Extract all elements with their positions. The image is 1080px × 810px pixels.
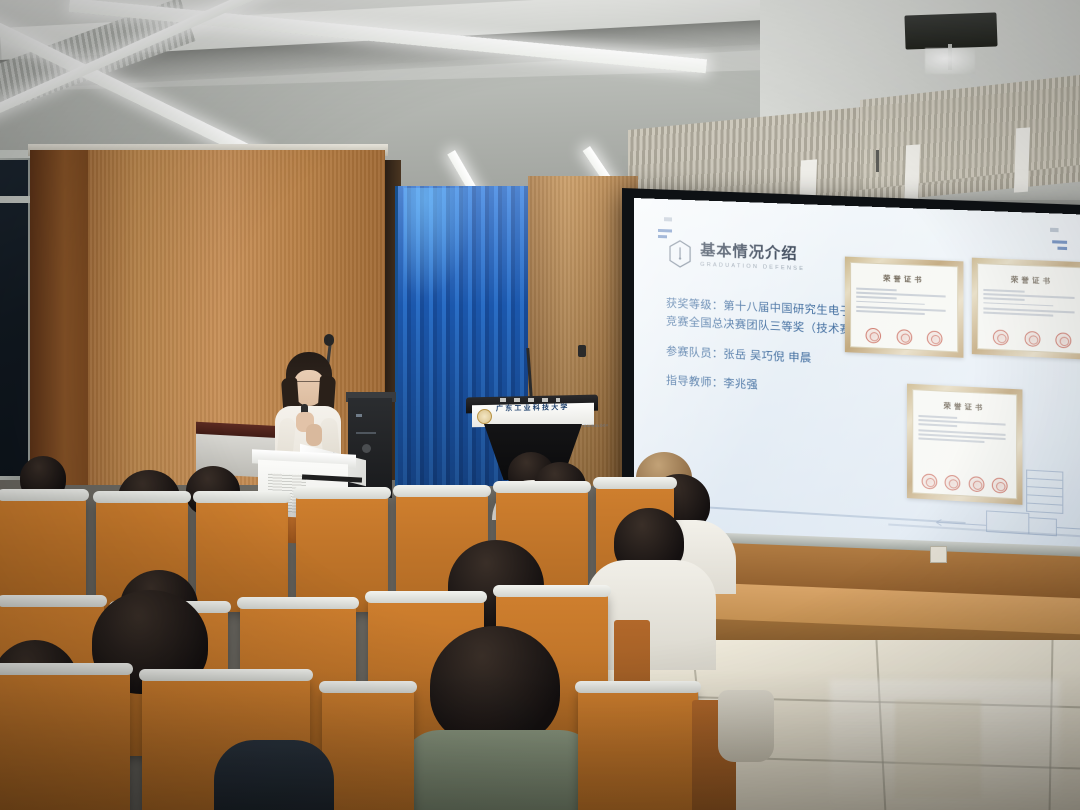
slide-deco-tick [664, 217, 672, 221]
hexagon-pen-icon [668, 239, 692, 268]
certificate-seals [978, 329, 1080, 349]
slide-deco-bar [1057, 247, 1067, 250]
wall-socket [930, 546, 947, 563]
ceiling-hook [876, 150, 879, 172]
audience-shoulders [400, 730, 600, 810]
slide-title: 基本情况介绍 [700, 242, 805, 261]
red-seal-icon [1055, 332, 1071, 348]
red-seal-icon [1024, 331, 1040, 347]
red-seal-icon [866, 328, 882, 344]
left-window-glass [0, 160, 28, 476]
lecture-hall-photo: 基本情况介绍 GRADUATION DEFENSE 获奖等级：第十八届中国研究生… [0, 0, 1080, 810]
rack-knob [362, 444, 371, 453]
floor-reflection-detail [895, 700, 981, 798]
rack-indicator [356, 432, 376, 434]
certificate-title: 荣誉证书 [983, 273, 1080, 287]
audience-head [430, 626, 560, 746]
slide-deco-bar [658, 235, 667, 238]
seat[interactable] [196, 500, 288, 612]
blinds-light-glow [404, 188, 474, 298]
certificate-image: 荣誉证书 [972, 258, 1080, 360]
lectern-nameplate: 广东工业科技大学 SOUTH UNIVERSITY OF AGRICULTURE… [472, 403, 594, 428]
red-seal-icon [896, 329, 912, 345]
certificate-image: 荣誉证书 [845, 257, 964, 358]
slide-deco-linework [926, 462, 1080, 550]
projector-head [925, 48, 975, 74]
ceiling-light-strip [1014, 127, 1030, 192]
wall-jack [578, 345, 586, 357]
rack-indicator [356, 414, 362, 417]
window-mullion [0, 196, 30, 203]
university-seal-icon [477, 408, 492, 423]
seat[interactable] [0, 498, 86, 608]
slide-subtitle: GRADUATION DEFENSE [700, 261, 805, 271]
certificate-seals [851, 327, 957, 347]
red-seal-icon [993, 329, 1009, 345]
certificate-title: 荣誉证书 [918, 400, 1010, 415]
seat[interactable] [578, 690, 698, 810]
microphone-head [324, 334, 334, 346]
slide-deco-bar [1052, 240, 1067, 244]
window-mullion [0, 150, 30, 158]
wall-column [30, 150, 88, 485]
slide-deco-tick [1050, 228, 1059, 232]
seat[interactable] [0, 672, 130, 810]
seat[interactable] [322, 690, 414, 810]
red-seal-icon [927, 330, 943, 346]
bag [718, 690, 774, 762]
lectern-cn-name: 广东工业科技大学 [496, 404, 570, 413]
slide-header: 基本情况介绍 GRADUATION DEFENSE [668, 239, 805, 273]
slide-deco-bar [658, 229, 672, 233]
slide-advisor: 指导教师：李兆强 [666, 373, 880, 402]
certificate-title: 荣誉证书 [856, 272, 952, 286]
audience-shoulders [214, 740, 334, 810]
presenter-hand [306, 424, 322, 446]
